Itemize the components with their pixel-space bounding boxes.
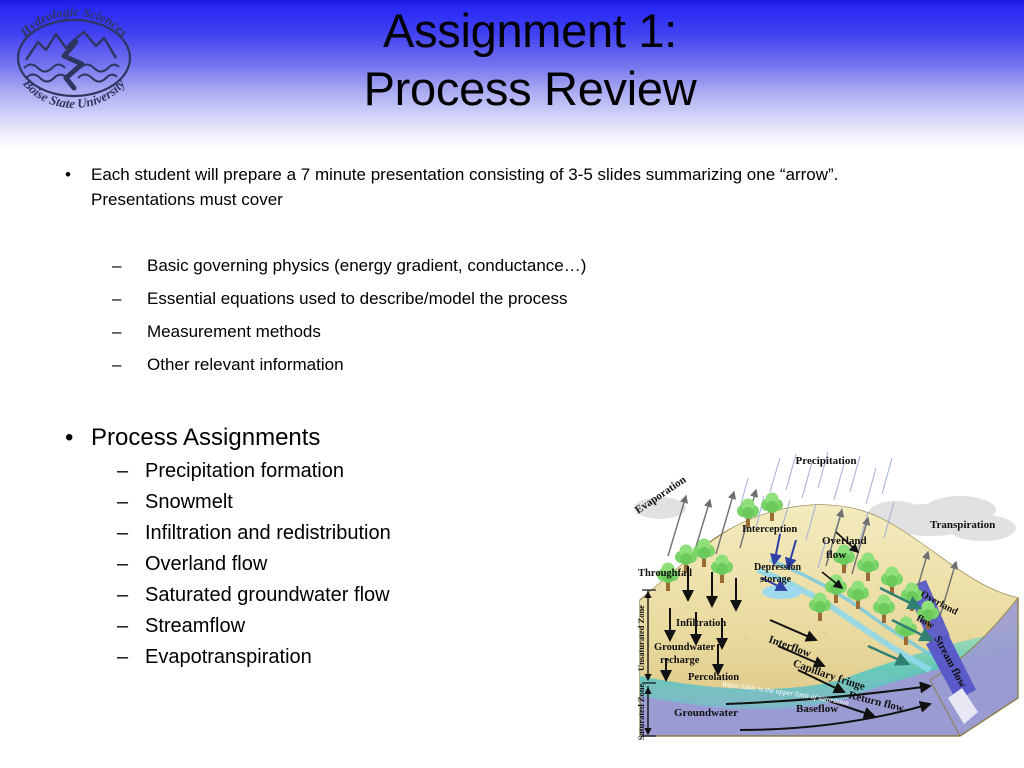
label-depression-storage-line1: Depression: [754, 562, 801, 573]
list-item: – Snowmelt: [117, 487, 577, 518]
list-item: – Basic governing physics (energy gradie…: [112, 253, 872, 279]
label-saturated-zone: Saturated Zone: [636, 684, 646, 741]
dash-icon: –: [112, 286, 147, 312]
process-assignments-list: – Precipitation formation – Snowmelt – I…: [117, 456, 577, 673]
label-groundwater-recharge-line1: Groundwater: [654, 642, 715, 653]
svg-text:Hydrologic Sciences: Hydrologic Sciences: [16, 4, 132, 40]
label-throughfall: Throughfall: [638, 568, 692, 579]
label-groundwater: Groundwater: [674, 707, 738, 719]
svg-text:Boise State University: Boise State University: [19, 75, 128, 111]
dash-icon: –: [117, 456, 145, 487]
list-item-label: Saturated groundwater flow: [145, 580, 390, 611]
list-item: – Other relevant information: [112, 352, 872, 378]
dash-icon: –: [117, 580, 145, 611]
label-infiltration: Infiltration: [676, 618, 726, 629]
bullet-first-sublist: – Basic governing physics (energy gradie…: [112, 253, 872, 385]
dash-icon: –: [117, 642, 145, 673]
list-item: – Evapotranspiration: [117, 642, 577, 673]
bullet-second-text: Process Assignments: [91, 422, 320, 454]
dash-icon: –: [112, 319, 147, 345]
bullet-first: • Each student will prepare a 7 minute p…: [57, 162, 857, 212]
list-item: – Measurement methods: [112, 319, 872, 345]
page-title: Assignment 1: Process Review: [150, 2, 910, 118]
list-item-label: Overland flow: [145, 549, 267, 580]
title-line-2: Process Review: [150, 60, 910, 118]
label-precipitation: Precipitation: [796, 455, 857, 467]
list-item-label: Precipitation formation: [145, 456, 344, 487]
list-item: – Saturated groundwater flow: [117, 580, 577, 611]
bullet-second: • Process Assignments – Precipitation fo…: [57, 422, 577, 673]
bullet-first-text: Each student will prepare a 7 minute pre…: [91, 162, 857, 212]
label-groundwater-recharge-line2: recharge: [660, 655, 700, 666]
title-line-1: Assignment 1:: [383, 4, 677, 57]
dash-icon: –: [112, 352, 147, 378]
logo-top-text: Hydrologic Sciences: [16, 4, 132, 40]
dash-icon: –: [117, 611, 145, 642]
label-depression-storage-line2: storage: [760, 574, 792, 585]
list-item: – Infiltration and redistribution: [117, 518, 577, 549]
list-item-label: Essential equations used to describe/mod…: [147, 286, 568, 312]
label-transpiration: Transpiration: [930, 519, 995, 531]
logo-bottom-text: Boise State University: [19, 75, 128, 111]
list-item: – Overland flow: [117, 549, 577, 580]
label-overland-flow-line1: Overland: [822, 535, 867, 547]
hydrologic-cycle-diagram: Precipitation Evaporation Interception T…: [630, 448, 1022, 748]
list-item: – Streamflow: [117, 611, 577, 642]
list-item-label: Basic governing physics (energy gradient…: [147, 253, 586, 279]
bullet-dot-icon: •: [57, 162, 91, 187]
list-item-label: Other relevant information: [147, 352, 344, 378]
dash-icon: –: [117, 549, 145, 580]
list-item: – Essential equations used to describe/m…: [112, 286, 872, 312]
bullet-dot-icon: •: [57, 422, 91, 454]
list-item-label: Snowmelt: [145, 487, 233, 518]
list-item: – Precipitation formation: [117, 456, 577, 487]
boise-state-hydrologic-sciences-logo: Hydrologic Sciences Boise State Universi…: [4, 2, 144, 114]
dash-icon: –: [112, 253, 147, 279]
list-item-label: Streamflow: [145, 611, 245, 642]
label-overland-flow-line2: flow: [826, 549, 846, 561]
label-baseflow: Baseflow: [796, 703, 838, 715]
label-interception: Interception: [742, 524, 797, 535]
label-unsaturated-zone: Unsaturated Zone: [636, 605, 646, 671]
list-item-label: Measurement methods: [147, 319, 321, 345]
dash-icon: –: [117, 487, 145, 518]
list-item-label: Evapotranspiration: [145, 642, 312, 673]
dash-icon: –: [117, 518, 145, 549]
list-item-label: Infiltration and redistribution: [145, 518, 391, 549]
